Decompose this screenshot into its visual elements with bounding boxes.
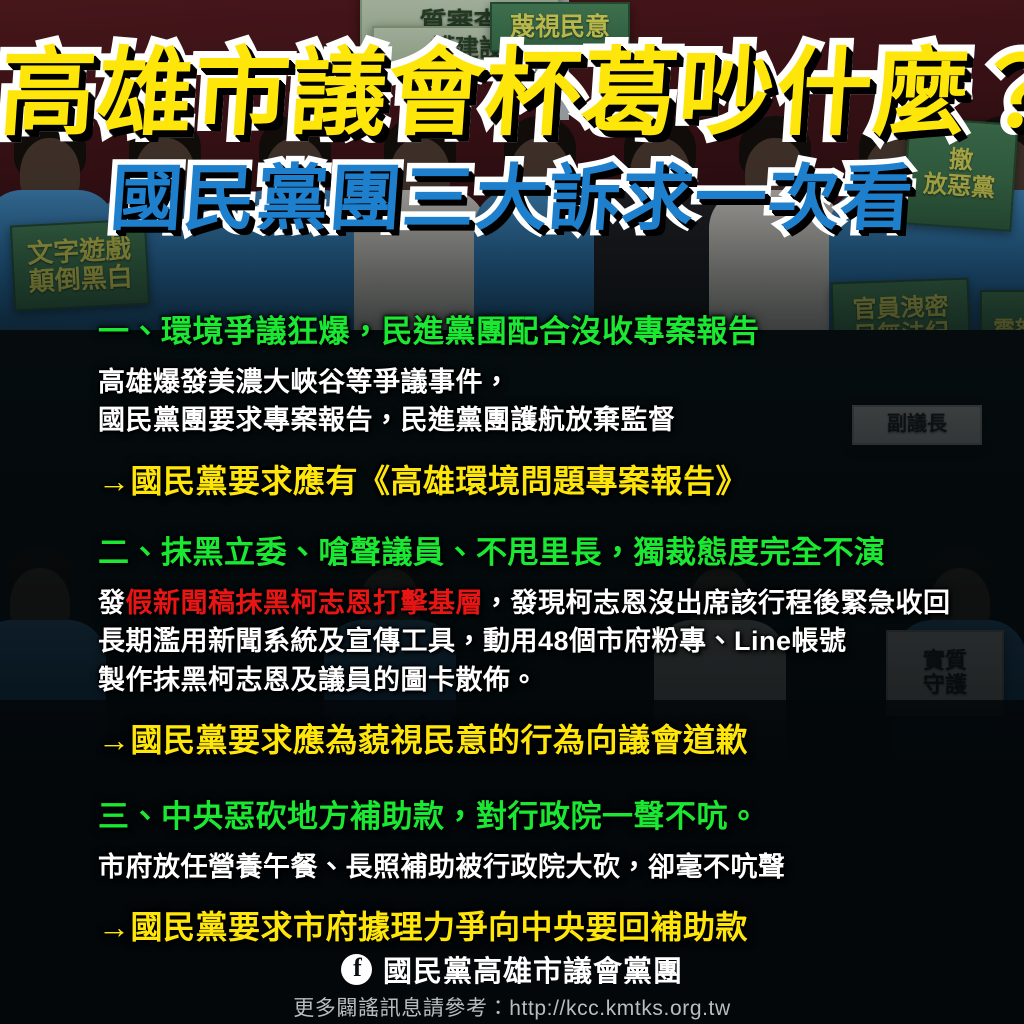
- page-title: 高雄市議會杯葛吵什麼？: [0, 42, 1024, 146]
- footer-note[interactable]: 更多闢謠訊息請參考：http://kcc.kmtks.org.tw: [0, 992, 1024, 1022]
- line-highlight: 假新聞稿抹黑柯志恩打擊基層: [126, 588, 484, 618]
- line-suffix: ，發現柯志恩沒出席該行程後緊急收回: [483, 588, 951, 618]
- section-two-line-highlighted: 發假新聞稿抹黑柯志恩打擊基層，發現柯志恩沒出席該行程後緊急收回: [98, 584, 948, 622]
- section-one-line: 高雄爆發美濃大峽谷等爭議事件，: [98, 363, 948, 401]
- section-two: 二、抹黑立委、嗆聲議員、不甩里長，獨裁態度完全不演 發假新聞稿抹黑柯志恩打擊基層…: [98, 527, 948, 761]
- section-two-heading: 二、抹黑立委、嗆聲議員、不甩里長，獨裁態度完全不演: [98, 527, 948, 572]
- section-one: 一、環境爭議狂爆，民進黨團配合沒收專案報告 高雄爆發美濃大峽谷等爭議事件， 國民…: [98, 306, 948, 502]
- facebook-page-name: 國民黨高雄市議會黨團: [383, 948, 683, 990]
- facebook-credit-row[interactable]: f 國民黨高雄市議會黨團: [0, 948, 1024, 990]
- section-one-line: 國民黨團要求專案報告，民進黨團護航放棄監督: [98, 401, 948, 439]
- section-three: 三、中央惡砍地方補助款，對行政院一聲不吭。 市府放任營養午餐、長照補助被行政院大…: [98, 791, 948, 948]
- section-two-line: 長期濫用新聞系統及宣傳工具，動用48個市府粉專、Line帳號: [98, 622, 948, 660]
- content-layer: 高雄市議會杯葛吵什麼？ 國民黨團三大訴求一次看 一、環境爭議狂爆，民進黨團配合沒…: [0, 0, 1024, 1024]
- section-three-line: 市府放任營養午餐、長照補助被行政院大砍，卻毫不吭聲: [98, 848, 948, 886]
- poster-root: 文字遊戲 顛倒黑白 質審查 護建設 蔑視民意 撤 放惡黨 官員洩密 目無法紀 震…: [0, 0, 1024, 1024]
- facebook-icon: f: [341, 954, 372, 985]
- section-one-heading: 一、環境爭議狂爆，民進黨團配合沒收專案報告: [98, 306, 948, 351]
- page-subtitle: 國民黨團三大訴求一次看: [0, 160, 1024, 239]
- section-three-demand: →國民黨要求市府據理力爭向中央要回補助款: [98, 902, 948, 948]
- section-three-heading: 三、中央惡砍地方補助款，對行政院一聲不吭。: [98, 791, 948, 836]
- line-prefix: 發: [98, 588, 126, 618]
- section-one-demand: →國民黨要求應有《高雄環境問題專案報告》: [98, 456, 948, 502]
- section-two-demand: →國民黨要求應為藐視民意的行為向議會道歉: [98, 715, 948, 761]
- section-two-line: 製作抹黑柯志恩及議員的圖卡散佈。: [98, 661, 948, 699]
